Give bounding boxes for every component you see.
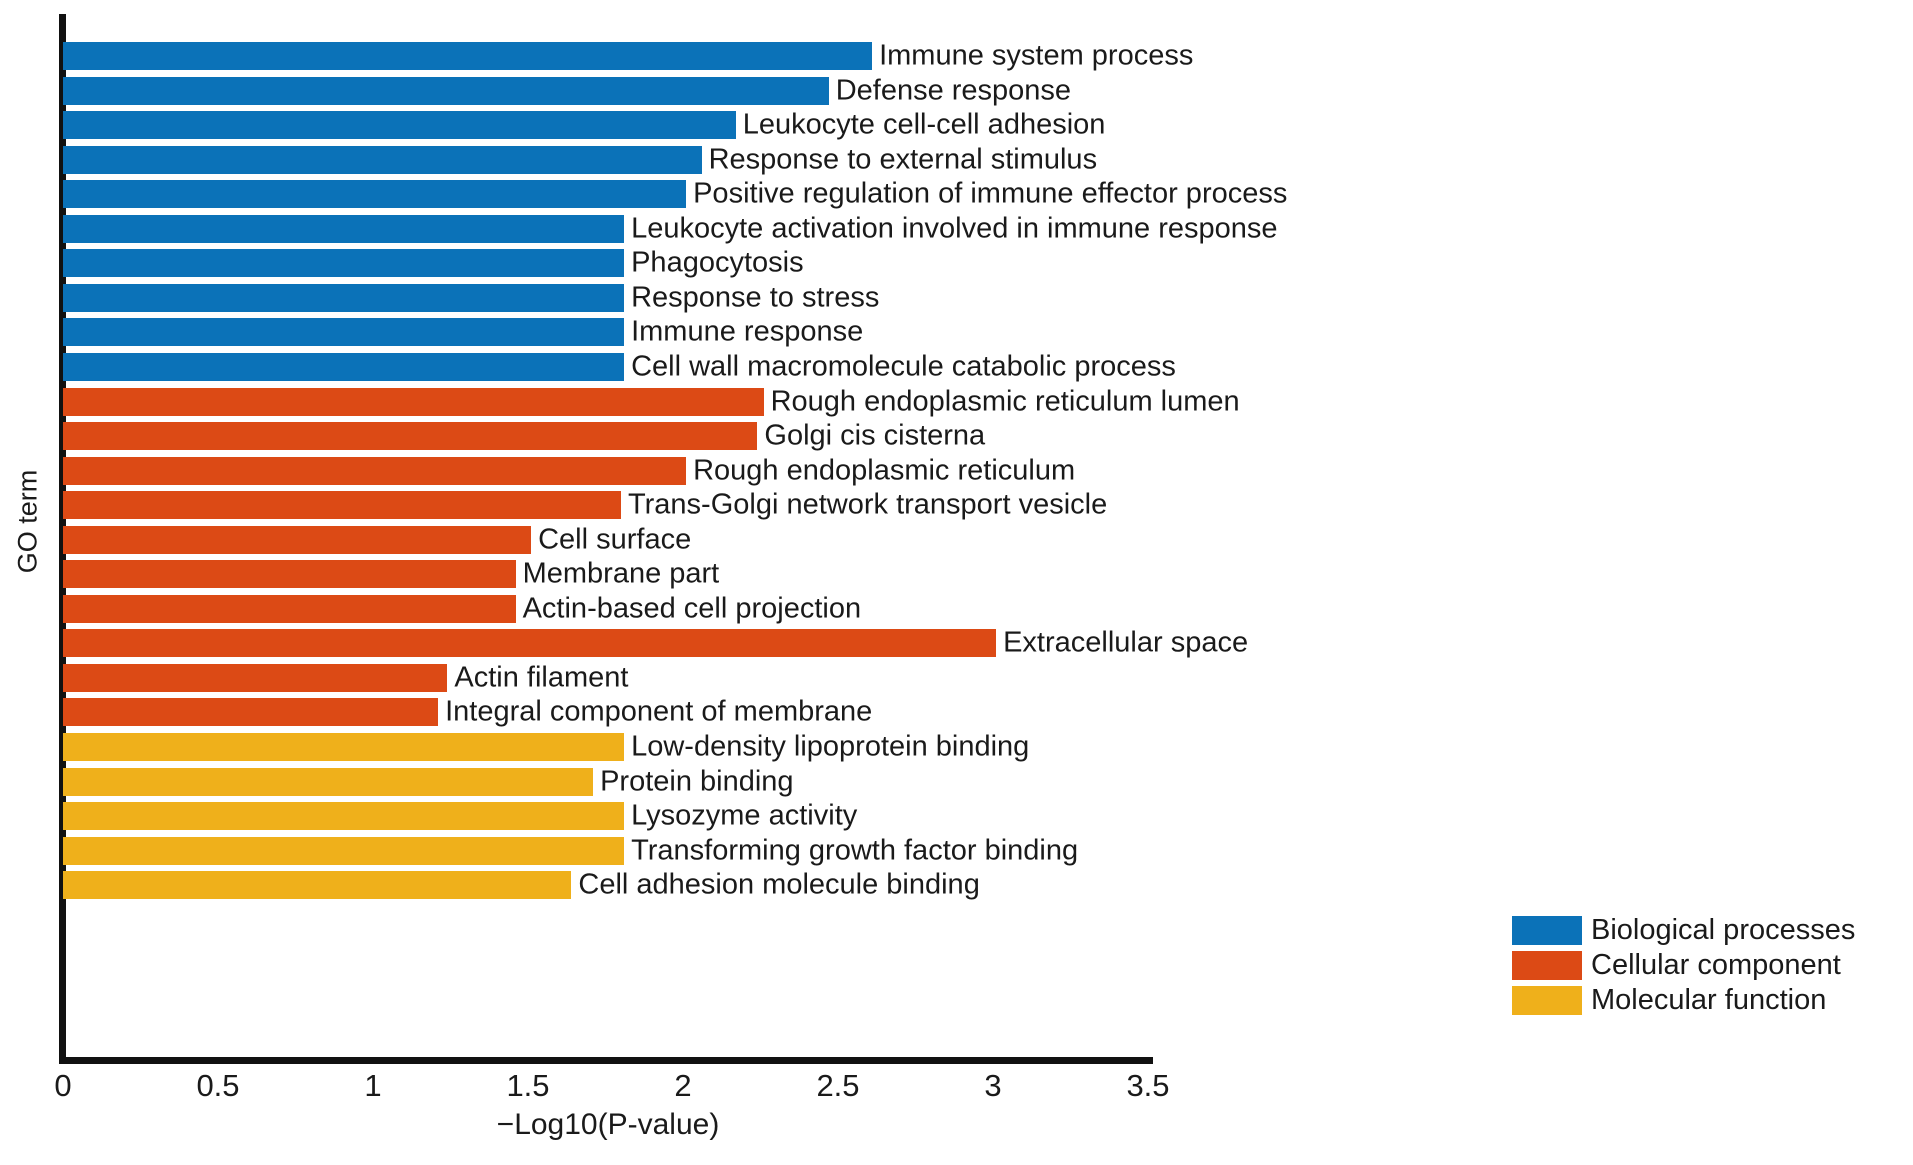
legend-label: Cellular component <box>1591 951 1841 980</box>
bar-row[interactable]: Positive regulation of immune effector p… <box>63 180 686 208</box>
bar-row[interactable]: Membrane part <box>63 560 516 588</box>
bar-category-label: Positive regulation of immune effector p… <box>693 180 1287 209</box>
bar-category-label: Protein binding <box>600 767 793 796</box>
bar-category-label: Rough endoplasmic reticulum <box>693 456 1075 485</box>
bar-rect <box>63 111 736 139</box>
x-tick-label: 3 <box>984 1068 1001 1104</box>
plot-area: Immune system processDefense responseLeu… <box>0 0 1200 1060</box>
bar-category-label: Cell surface <box>538 525 691 554</box>
bar-rect <box>63 249 624 277</box>
bar-rect <box>63 629 996 657</box>
legend-swatch <box>1512 986 1582 1015</box>
bar-row[interactable]: Immune system process <box>63 42 872 70</box>
x-tick-label: 2 <box>674 1068 691 1104</box>
bar-row[interactable]: Low-density lipoprotein binding <box>63 733 624 761</box>
bar-row[interactable]: Actin-based cell projection <box>63 595 516 623</box>
bar-rect <box>63 180 686 208</box>
legend-label: Biological processes <box>1591 916 1855 945</box>
bar-rect <box>63 595 516 623</box>
legend-item[interactable]: Molecular function <box>1512 983 1855 1017</box>
bar-rect <box>63 284 624 312</box>
y-axis-title: GO term <box>13 442 44 602</box>
bar-category-label: Actin-based cell projection <box>523 594 862 623</box>
bar-rect <box>63 802 624 830</box>
bar-row[interactable]: Leukocyte cell-cell adhesion <box>63 111 736 139</box>
bar-rect <box>63 871 571 899</box>
x-tick-label: 3.5 <box>1126 1068 1169 1104</box>
bar-row[interactable]: Immune response <box>63 318 624 346</box>
legend-label: Molecular function <box>1591 986 1826 1015</box>
bar-rect <box>63 457 686 485</box>
bar-rect <box>63 698 438 726</box>
legend-item[interactable]: Biological processes <box>1512 913 1855 947</box>
legend: Biological processesCellular componentMo… <box>1512 913 1855 1018</box>
bar-row[interactable]: Trans-Golgi network transport vesicle <box>63 491 621 519</box>
bar-row[interactable]: Actin filament <box>63 664 447 692</box>
x-tick-label: 0.5 <box>196 1068 239 1104</box>
bar-category-label: Membrane part <box>523 560 720 589</box>
bar-row[interactable]: Cell adhesion molecule binding <box>63 871 571 899</box>
x-axis-title: −Log10(P-value) <box>63 1108 1153 1142</box>
bar-category-label: Immune system process <box>879 42 1193 71</box>
bar-rect <box>63 146 702 174</box>
bar-category-label: Leukocyte activation involved in immune … <box>631 214 1277 243</box>
legend-item[interactable]: Cellular component <box>1512 948 1855 982</box>
bar-category-label: Response to external stimulus <box>709 145 1097 174</box>
x-tick-label: 0 <box>54 1068 71 1104</box>
bar-category-label: Transforming growth factor binding <box>631 836 1078 865</box>
bar-category-label: Trans-Golgi network transport vesicle <box>628 491 1107 520</box>
go-enrichment-figure: Immune system processDefense responseLeu… <box>0 0 1913 1165</box>
bar-category-label: Cell wall macromolecule catabolic proces… <box>631 352 1176 381</box>
bar-category-label: Defense response <box>836 76 1071 105</box>
bar-category-label: Actin filament <box>454 663 628 692</box>
legend-swatch <box>1512 916 1582 945</box>
bar-rect <box>63 837 624 865</box>
bar-rect <box>63 422 757 450</box>
x-tick-label: 1.5 <box>506 1068 549 1104</box>
bar-category-label: Phagocytosis <box>631 249 804 278</box>
bar-category-label: Golgi cis cisterna <box>764 422 985 451</box>
bar-category-label: Integral component of membrane <box>445 698 872 727</box>
bar-rect <box>63 664 447 692</box>
bar-row[interactable]: Cell wall macromolecule catabolic proces… <box>63 353 624 381</box>
bar-row[interactable]: Golgi cis cisterna <box>63 422 757 450</box>
bar-row[interactable]: Response to stress <box>63 284 624 312</box>
bar-rect <box>63 733 624 761</box>
bar-row[interactable]: Protein binding <box>63 768 593 796</box>
x-tick-label: 2.5 <box>816 1068 859 1104</box>
bar-row[interactable]: Leukocyte activation involved in immune … <box>63 215 624 243</box>
bar-rect <box>63 768 593 796</box>
bar-category-label: Cell adhesion molecule binding <box>578 871 979 900</box>
bar-row[interactable]: Integral component of membrane <box>63 698 438 726</box>
bar-row[interactable]: Rough endoplasmic reticulum <box>63 457 686 485</box>
bar-category-label: Low-density lipoprotein binding <box>631 733 1029 762</box>
bar-rect <box>63 560 516 588</box>
bar-row[interactable]: Phagocytosis <box>63 249 624 277</box>
x-tick-label: 1 <box>364 1068 381 1104</box>
bar-rect <box>63 215 624 243</box>
x-axis-line <box>59 1057 1153 1064</box>
bar-row[interactable]: Transforming growth factor binding <box>63 837 624 865</box>
bar-row[interactable]: Response to external stimulus <box>63 146 702 174</box>
legend-swatch <box>1512 951 1582 980</box>
bar-rect <box>63 491 621 519</box>
bar-row[interactable]: Extracellular space <box>63 629 996 657</box>
bar-row[interactable]: Defense response <box>63 77 829 105</box>
bar-row[interactable]: Lysozyme activity <box>63 802 624 830</box>
bar-row[interactable]: Cell surface <box>63 526 531 554</box>
bar-rect <box>63 388 764 416</box>
bar-category-label: Lysozyme activity <box>631 802 857 831</box>
bar-rect <box>63 42 872 70</box>
bar-rect <box>63 526 531 554</box>
bar-category-label: Extracellular space <box>1003 629 1248 658</box>
bar-rect <box>63 77 829 105</box>
bar-category-label: Leukocyte cell-cell adhesion <box>743 111 1106 140</box>
bar-rect <box>63 318 624 346</box>
bar-rect <box>63 353 624 381</box>
bar-category-label: Rough endoplasmic reticulum lumen <box>771 387 1240 416</box>
bar-category-label: Immune response <box>631 318 863 347</box>
bar-row[interactable]: Rough endoplasmic reticulum lumen <box>63 388 764 416</box>
bar-category-label: Response to stress <box>631 283 879 312</box>
